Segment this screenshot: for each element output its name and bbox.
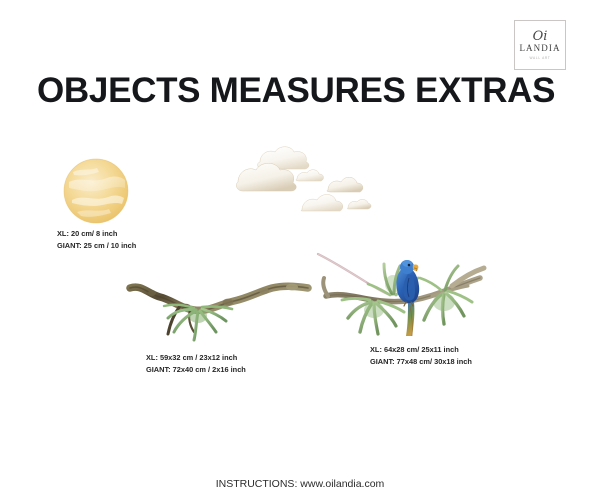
sun-artwork bbox=[63, 158, 129, 224]
brand-logo-tagline: WALL ART bbox=[529, 57, 550, 60]
parrot-size-xl: XL: 64x28 cm/ 25x11 inch bbox=[370, 344, 472, 356]
parrot-bird bbox=[396, 260, 419, 336]
brand-logo-script: Oi bbox=[533, 30, 548, 43]
sun-size-giant: GIANT: 25 cm / 10 inch bbox=[57, 240, 136, 252]
branch-artwork bbox=[124, 266, 314, 344]
branch-foliage bbox=[164, 305, 232, 340]
sun-measurements: XL: 20 cm/ 8 inch GIANT: 25 cm / 10 inch bbox=[57, 228, 136, 251]
parrot-artwork bbox=[312, 248, 500, 340]
brand-logo-wordmark: LANDIA bbox=[519, 44, 560, 53]
cloud-3 bbox=[296, 170, 323, 181]
instructions-footer: INSTRUCTIONS: www.oilandia.com bbox=[0, 478, 600, 490]
brand-logo: Oi LANDIA WALL ART bbox=[514, 20, 566, 70]
clouds-artwork bbox=[236, 142, 376, 227]
poster-canvas: Oi LANDIA WALL ART OBJECTS MEASURES EXTR… bbox=[0, 0, 600, 504]
parrot-size-giant: GIANT: 77x48 cm/ 30x18 inch bbox=[370, 356, 472, 368]
branch-size-xl: XL: 59x32 cm / 23x12 inch bbox=[146, 352, 246, 364]
cloud-6 bbox=[347, 199, 371, 209]
cloud-5 bbox=[301, 194, 343, 211]
sun-size-xl: XL: 20 cm/ 8 inch bbox=[57, 228, 136, 240]
page-title: OBJECTS MEASURES EXTRAS bbox=[37, 71, 555, 111]
parrot-measurements: XL: 64x28 cm/ 25x11 inch GIANT: 77x48 cm… bbox=[370, 344, 472, 367]
branch-size-giant: GIANT: 72x40 cm / 2x16 inch bbox=[146, 364, 246, 376]
branch-measurements: XL: 59x32 cm / 23x12 inch GIANT: 72x40 c… bbox=[146, 352, 246, 375]
cloud-4 bbox=[327, 177, 363, 192]
